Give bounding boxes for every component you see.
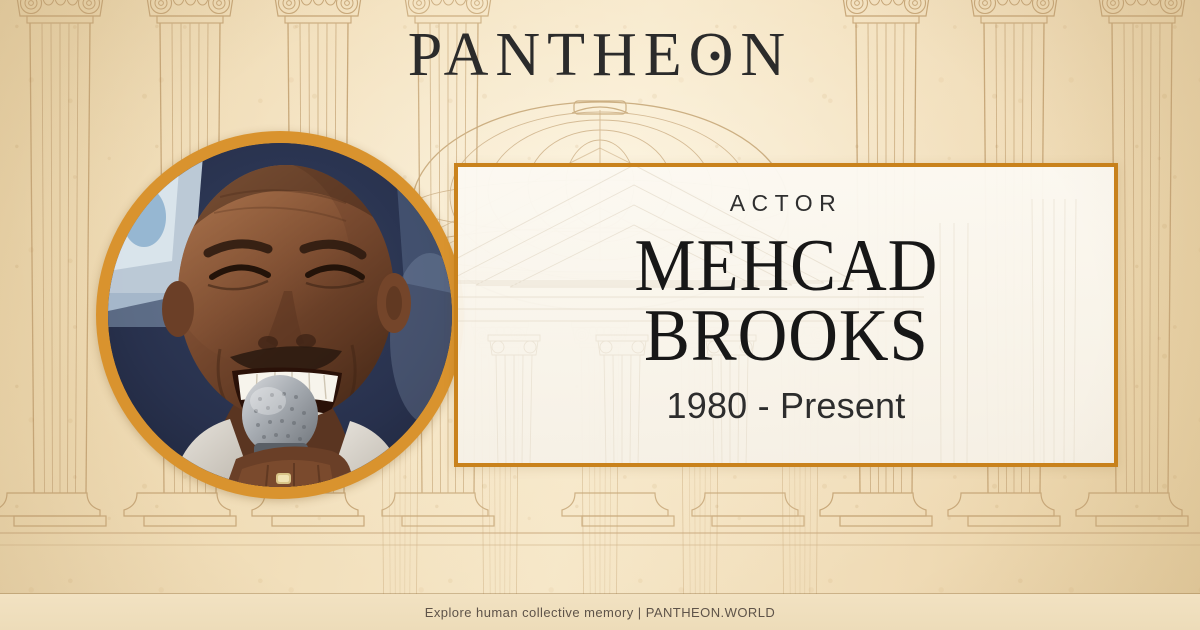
avatar <box>108 143 452 487</box>
footer: Explore human collective memory | PANTHE… <box>0 594 1200 630</box>
column-mid-3 <box>562 493 674 526</box>
wordmark-oculus-dot <box>710 52 719 61</box>
person-name-line-2: BROOKS <box>634 301 938 371</box>
wordmark-dotted-o-icon: O <box>689 24 741 86</box>
page-title: MEHCAD BROOKS <box>634 231 938 372</box>
wordmark-part-before: PANTHE <box>408 21 689 89</box>
wordmark-part-after: N <box>740 21 792 89</box>
footer-tagline: Explore human collective memory | PANTHE… <box>425 605 776 620</box>
column-mid-2 <box>692 493 804 526</box>
profile-card: ACTOR MEHCAD BROOKS 1980 - Present <box>454 163 1118 467</box>
pantheon-profile-card: PANTHEON <box>0 0 1200 630</box>
lifespan-label: 1980 - Present <box>667 388 906 424</box>
portrait-photo <box>108 143 452 487</box>
occupation-label: ACTOR <box>730 192 843 215</box>
portrait-ring <box>96 131 464 499</box>
pantheon-wordmark: PANTHEON <box>0 24 1200 86</box>
person-name-line-1: MEHCAD <box>634 231 938 301</box>
